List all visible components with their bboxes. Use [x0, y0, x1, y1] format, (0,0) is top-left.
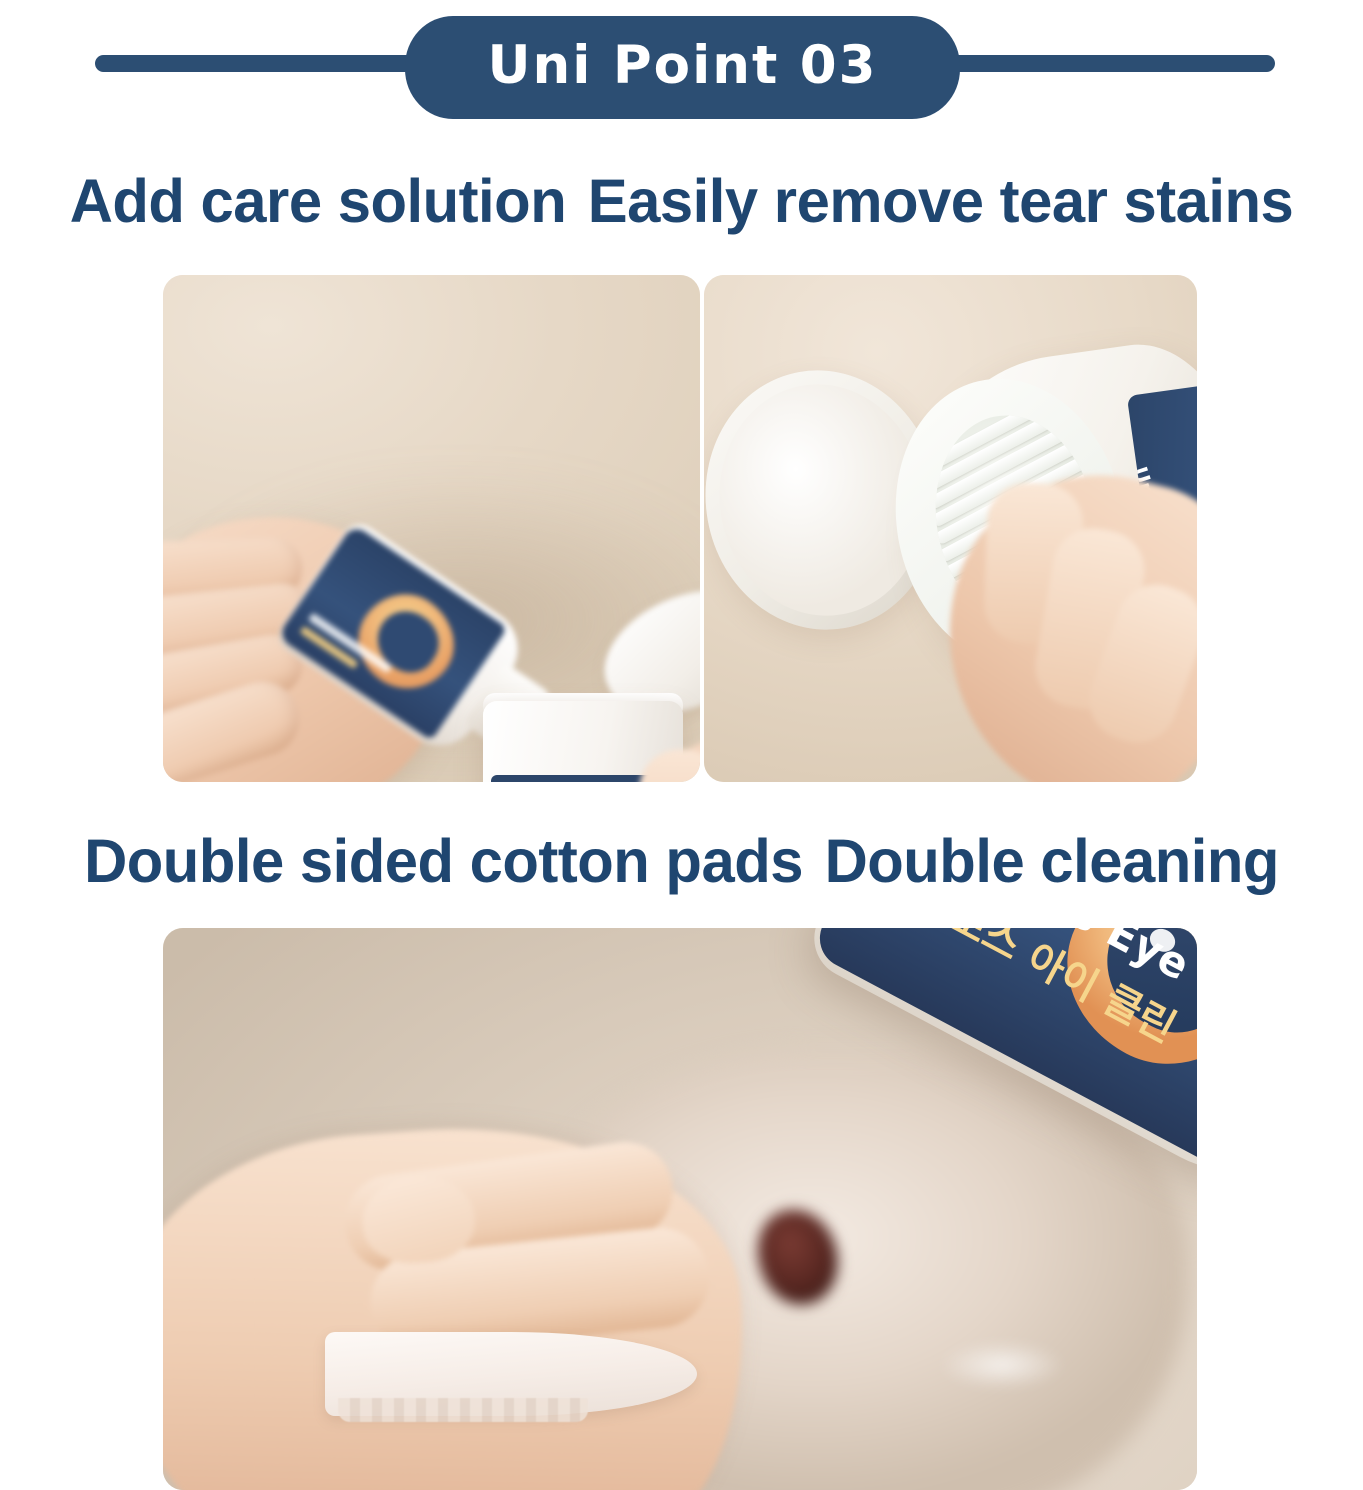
product-feature-page: Uni Point 03 Add care solutionEasily rem… [0, 0, 1363, 1490]
pet-mascot-icon [341, 577, 472, 707]
photo-panel-add-solution: Unipaws Finger Pad 손가락 패드 for dog&cat 50 [163, 275, 700, 782]
finger-pad-textured-edge [338, 1398, 588, 1422]
headline-1-part-b: Easily remove tear stains [588, 167, 1294, 235]
headline-2-part-a: Double sided cotton pads [84, 827, 803, 895]
point-badge: Uni Point 03 [405, 16, 960, 119]
photo-panel-double-cleaning: Unipaws Eye Clean 유니포스 아이 클린 눈물자국·눈곱 제거 … [163, 928, 1197, 1490]
point-badge-label: Uni Point 03 [487, 39, 877, 96]
headline-2-part-b: Double cleaning [825, 827, 1279, 895]
photo-panel-open-jar: Unipaws Finger Pad [704, 275, 1197, 782]
headline-primary: Add care solutionEasily remove tear stai… [14, 166, 1350, 236]
headline-secondary: Double sided cotton padsDouble cleaning [14, 826, 1350, 896]
skin-highlight [927, 1336, 1077, 1394]
header-band: Uni Point 03 [0, 8, 1363, 118]
headline-1-part-a: Add care solution [70, 167, 567, 235]
